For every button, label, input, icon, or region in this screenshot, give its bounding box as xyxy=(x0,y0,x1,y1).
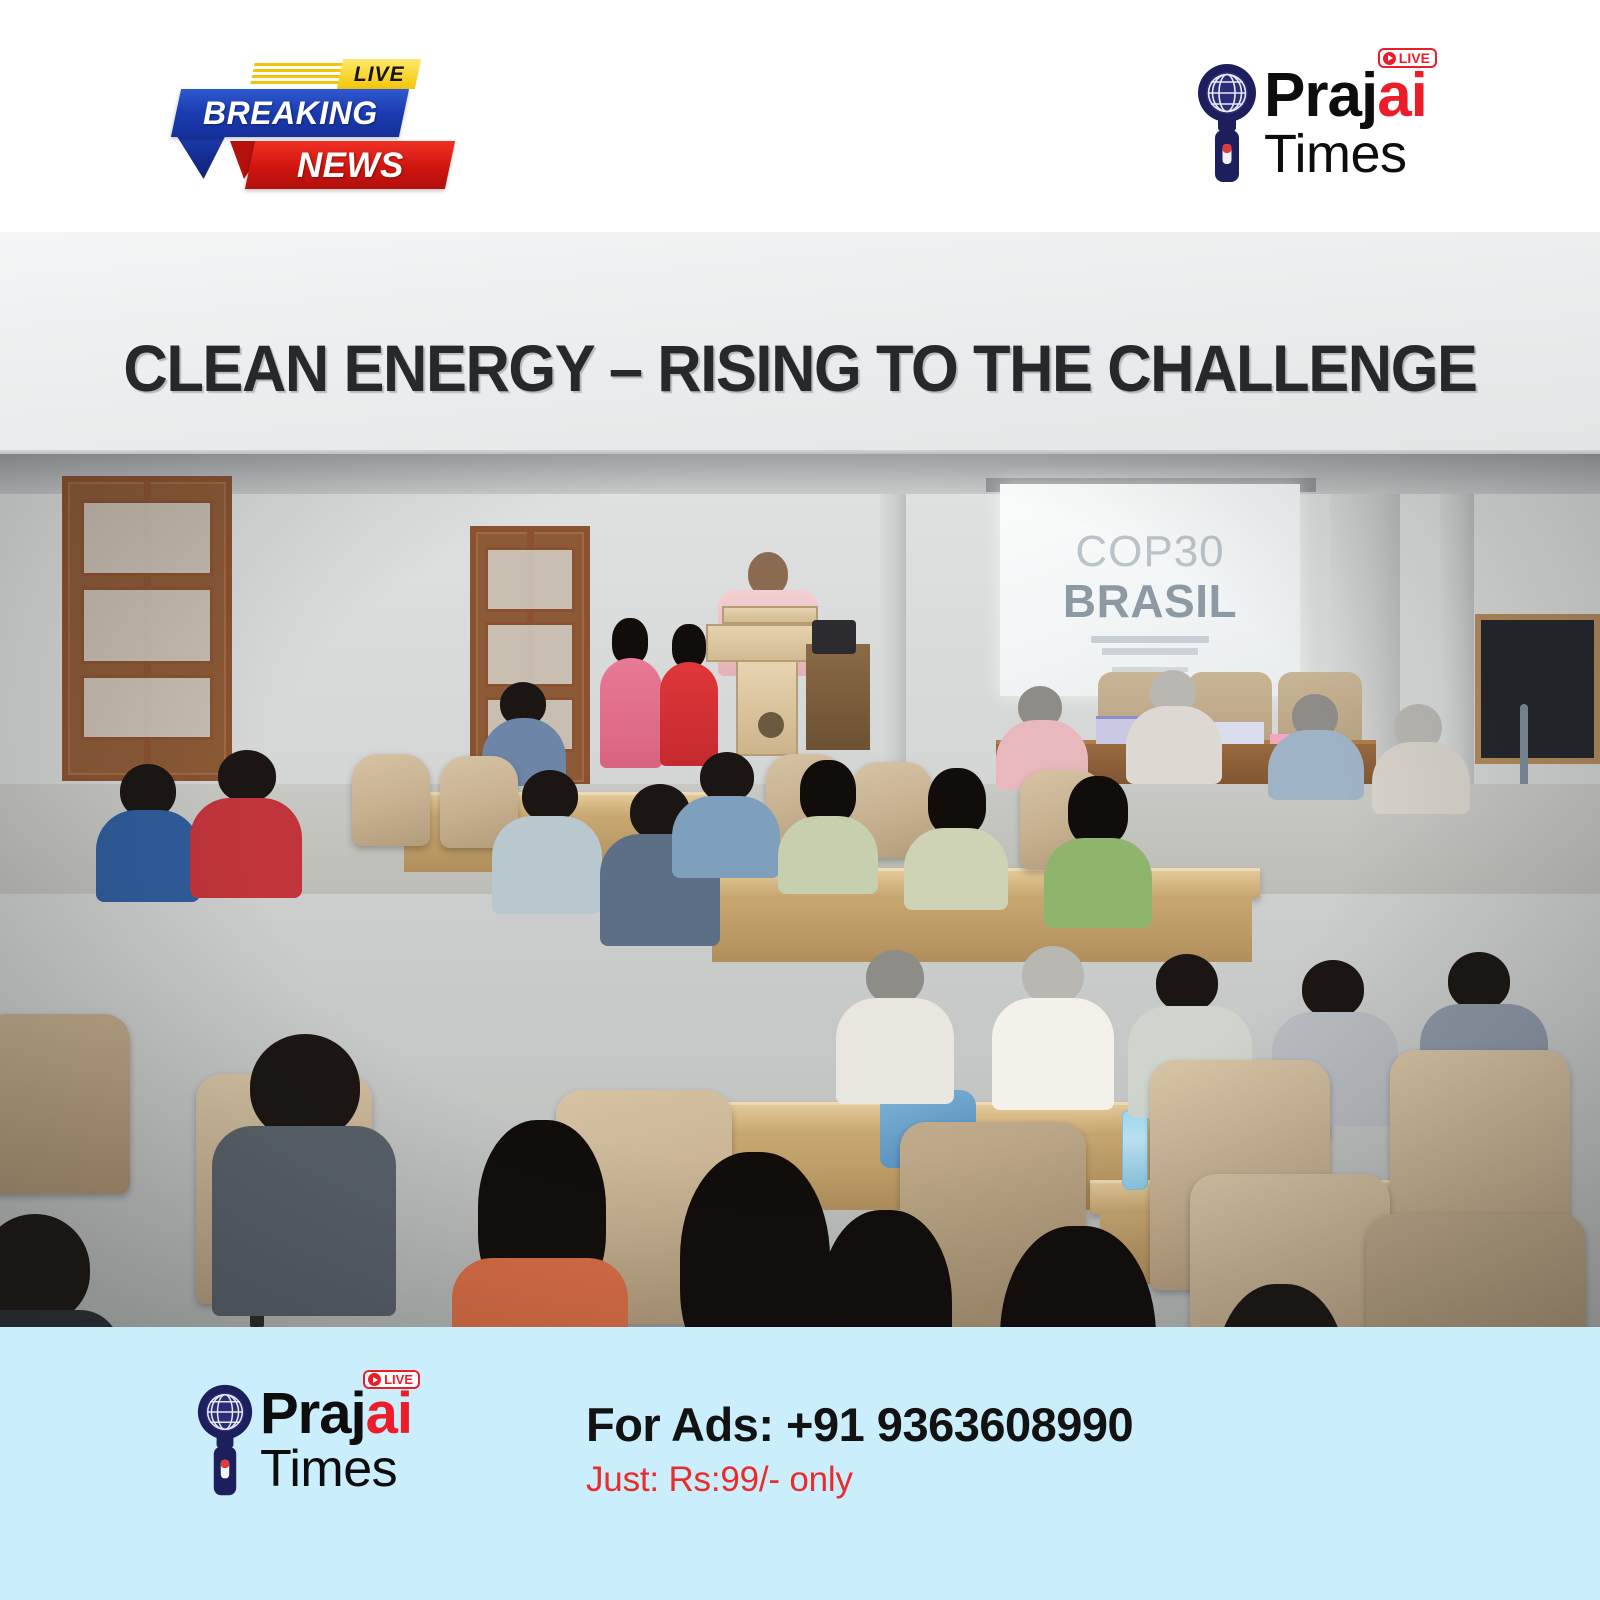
event-photo: CLEAN ENERGY – RISING TO THE CHALLENGE xyxy=(0,232,1600,1327)
audience-body xyxy=(672,796,780,878)
brand-name-ai: ai xyxy=(1377,61,1427,130)
ads-price-line: Just: Rs:99/- only xyxy=(586,1461,1133,1500)
brand-name-ai: ai xyxy=(366,1381,412,1446)
standing-person-2-dress xyxy=(660,662,718,766)
audience-head xyxy=(1448,952,1510,1010)
audience-head xyxy=(1302,960,1364,1018)
audience-body xyxy=(778,816,878,894)
brand-wordmark: Prajai Times LIVE xyxy=(260,1386,412,1496)
podium-emblem xyxy=(758,712,784,738)
audience-head-foreground xyxy=(0,1214,90,1324)
news-graphic-card: LIVE BREAKING NEWS xyxy=(0,0,1600,1600)
live-badge-red: LIVE xyxy=(1378,48,1437,68)
audience-body xyxy=(904,828,1008,910)
breaking-news-logo: LIVE BREAKING NEWS xyxy=(170,55,460,185)
audience-head xyxy=(522,770,578,822)
audience-head xyxy=(1068,776,1128,846)
equipment-box xyxy=(812,620,856,654)
chair xyxy=(0,1014,130,1194)
audience-head xyxy=(800,760,856,824)
chair xyxy=(352,754,430,846)
microphone-globe-icon xyxy=(1196,60,1258,188)
header-bar: LIVE BREAKING NEWS xyxy=(0,0,1600,232)
standing-person-1-saree xyxy=(600,658,662,768)
brand-logo-header: Prajai Times LIVE xyxy=(1196,60,1427,188)
audience-body xyxy=(190,798,302,898)
conference-hall-room: COP30 BRASIL xyxy=(0,454,1600,1327)
podium-mic-shelf xyxy=(722,606,818,624)
brand-name-praj: Praj xyxy=(1264,61,1377,130)
projected-slide: COP30 BRASIL xyxy=(1000,484,1300,696)
audience-body-foreground xyxy=(452,1258,628,1327)
news-banner: NEWS xyxy=(245,141,455,189)
audience-head xyxy=(928,768,986,836)
slide-subtext-2 xyxy=(1102,648,1198,655)
brand-name-line1: Prajai xyxy=(260,1386,412,1443)
live-badge-yellow: LIVE xyxy=(337,59,421,89)
chair xyxy=(1366,1214,1586,1327)
slide-line1: COP30 xyxy=(1075,530,1224,574)
brand-logo-footer: Prajai Times LIVE xyxy=(196,1381,412,1501)
brand-name-praj: Praj xyxy=(260,1381,366,1446)
slide-line2: BRASIL xyxy=(1063,578,1237,624)
audience-body xyxy=(1372,742,1470,814)
audience-body-foreground xyxy=(212,1126,396,1316)
blackboard xyxy=(1475,614,1600,764)
audience-body xyxy=(1126,706,1222,784)
ads-phone-line: For Ads: +91 9363608990 xyxy=(586,1399,1133,1451)
brand-name-line2: Times xyxy=(260,1443,412,1496)
breaking-label: BREAKING xyxy=(203,97,378,129)
audience-body xyxy=(96,810,200,902)
breaking-banner: BREAKING xyxy=(171,89,409,137)
audience-head xyxy=(1156,954,1218,1012)
door-left xyxy=(62,476,232,781)
brand-wordmark: Prajai Times LIVE xyxy=(1264,66,1427,182)
audience-body-foreground xyxy=(0,1310,120,1327)
slide-subtext-1 xyxy=(1091,636,1209,643)
audience-body xyxy=(492,816,602,914)
audience-body xyxy=(1268,730,1364,800)
audience-body xyxy=(992,998,1114,1110)
audience-head xyxy=(866,950,924,1004)
audience-head xyxy=(700,752,754,802)
live-badge-red-label: LIVE xyxy=(1399,51,1430,65)
live-badge-red-label: LIVE xyxy=(384,1373,413,1386)
event-title-on-wall: CLEAN ENERGY – RISING TO THE CHALLENGE xyxy=(56,330,1544,406)
news-label: NEWS xyxy=(297,148,404,183)
water-bottle xyxy=(1122,1110,1148,1190)
audience-head-foreground xyxy=(250,1034,360,1140)
footer-bar: Prajai Times LIVE For Ads: +91 936360899… xyxy=(0,1327,1600,1600)
live-badge-red: LIVE xyxy=(363,1370,420,1389)
ads-contact-block: For Ads: +91 9363608990 Just: Rs:99/- on… xyxy=(586,1399,1133,1499)
play-icon xyxy=(1383,52,1396,65)
microphone-globe-icon xyxy=(196,1381,254,1501)
play-icon xyxy=(368,1373,381,1386)
blue-banner-tail xyxy=(165,133,227,179)
audience-head xyxy=(218,750,276,802)
audience-body xyxy=(1044,838,1152,928)
side-cabinet xyxy=(806,644,870,750)
audience-body xyxy=(836,998,954,1104)
audience-head xyxy=(1022,946,1084,1004)
podium-body xyxy=(736,660,798,756)
brand-name-line1: Prajai xyxy=(1264,66,1427,127)
brand-name-line2: Times xyxy=(1264,127,1427,182)
live-badge-label: LIVE xyxy=(354,64,405,85)
